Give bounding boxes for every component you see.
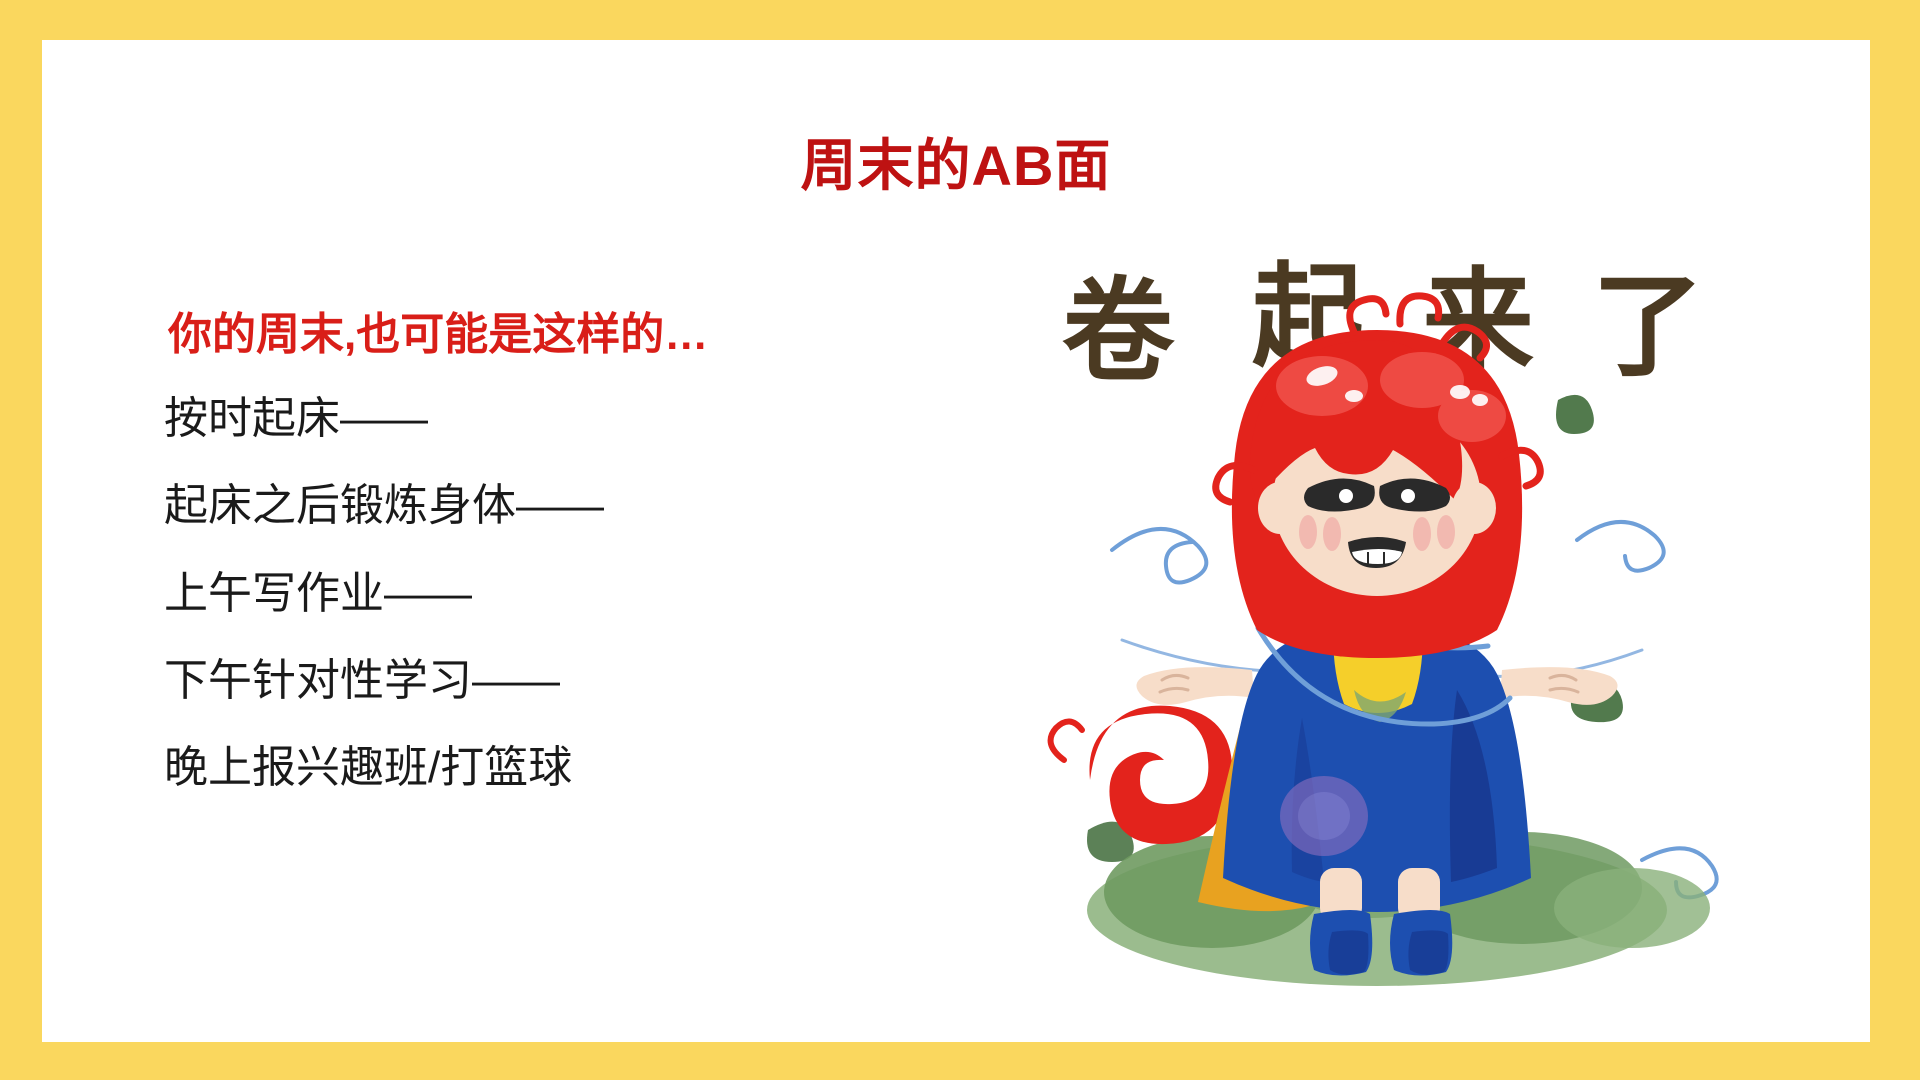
streamer-curl xyxy=(1051,721,1082,760)
caption-char-1: 卷 xyxy=(1062,267,1175,397)
schedule-item-3: 上午写作业—— xyxy=(164,571,984,617)
ear-left xyxy=(1258,482,1302,534)
illustration-cartoon-girl: 卷 起 来 了 xyxy=(1002,220,1762,1020)
caption-char-4: 了 xyxy=(1592,262,1704,392)
slide-canvas: 周末的AB面 你的周末,也可能是这样的… 按时起床—— 起床之后锻炼身体—— 上… xyxy=(42,40,1870,1042)
page-title: 周末的AB面 xyxy=(42,138,1870,194)
lead-line: 你的周末,也可能是这样的… xyxy=(168,312,984,358)
schedule-item-1: 按时起床—— xyxy=(164,396,984,442)
robe-embroidery xyxy=(1280,776,1368,856)
ear-right xyxy=(1452,482,1496,534)
slide-root: 周末的AB面 你的周末,也可能是这样的… 按时起床—— 起床之后锻炼身体—— 上… xyxy=(0,0,1920,1080)
schedule-item-4: 下午针对性学习—— xyxy=(164,658,984,704)
schedule-item-5: 晚上报兴趣班/打篮球 xyxy=(164,745,984,791)
schedule-item-2: 起床之后锻炼身体—— xyxy=(164,483,984,529)
text-column: 你的周末,也可能是这样的… 按时起床—— 起床之后锻炼身体—— 上午写作业—— … xyxy=(164,312,984,791)
